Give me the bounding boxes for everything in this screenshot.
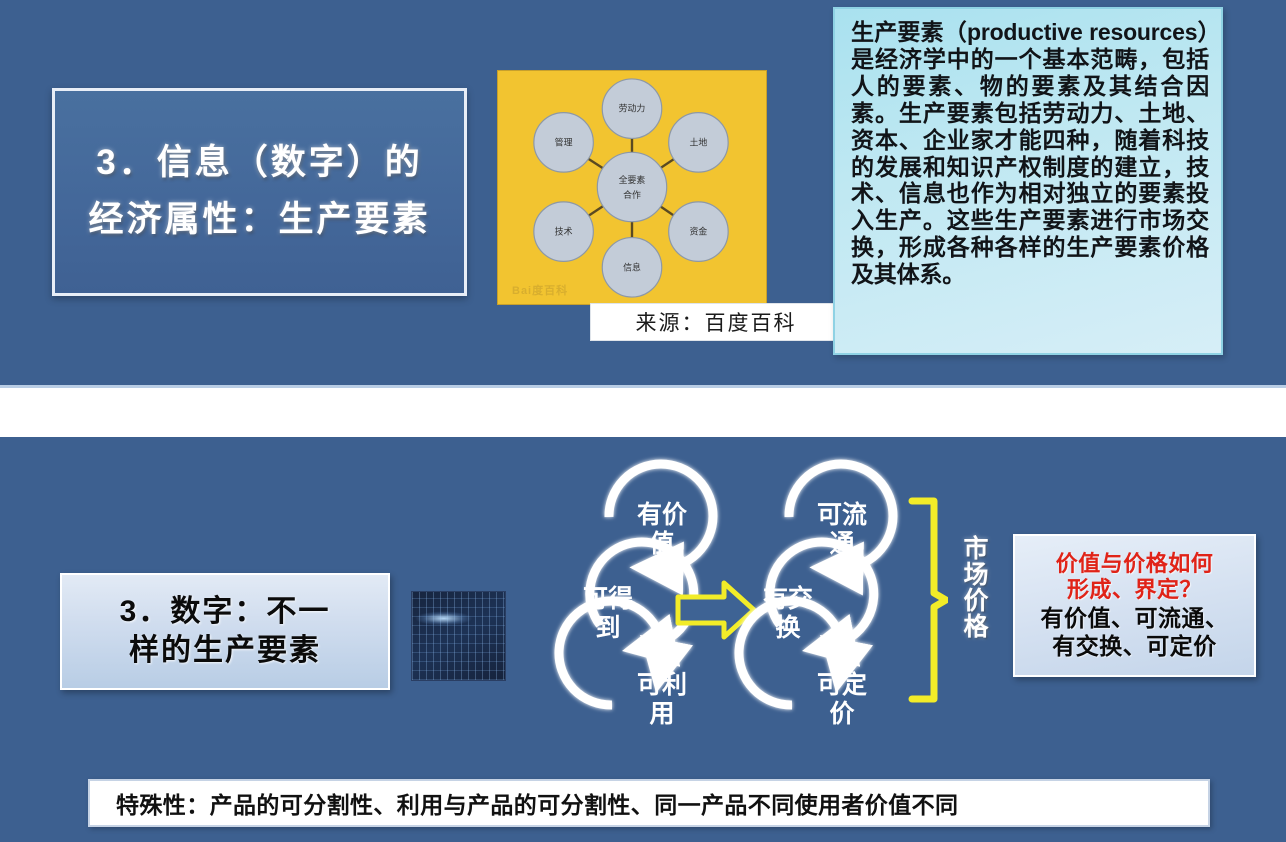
node-label-center-line-2: 合作 <box>623 189 641 200</box>
cycle-right-label-3b: 价 <box>829 700 855 728</box>
brace-icon <box>908 495 948 705</box>
production-factors-diagram: 劳动力 土地 资金 信息 技术 管理 全要素 合作 Bai度百科 <box>497 70 767 305</box>
source-caption: 来源：百度百科 <box>590 303 842 341</box>
bottom-caption-bar: 特殊性：产品的可分割性、利用与产品的可分割性、同一产品不同使用者价值不同 <box>88 779 1210 827</box>
production-factors-svg: 劳动力 土地 资金 信息 技术 管理 全要素 合作 <box>498 71 766 304</box>
answer-line-2: 有交换、可定价 <box>1052 632 1217 660</box>
slide-separator-gap <box>0 388 1286 437</box>
bottom-caption-text: 特殊性：产品的可分割性、利用与产品的可分割性、同一产品不同使用者价值不同 <box>116 786 958 820</box>
cycle-right-label-1a: 可流 <box>817 501 867 529</box>
node-label-management: 管理 <box>555 136 573 147</box>
cycle-left-label-2b: 到 <box>595 614 620 642</box>
production-factors-description-box: 生产要素（productive resources）是经济学中的一个基本范畴，包… <box>833 7 1223 355</box>
value-cycle-svg: 有价 值 可得 到 可利 用 可流 通 有交 换 可定 价 <box>540 455 940 765</box>
value-price-question-box: 价值与价格如何 形成、界定？ 有价值、可流通、 有交换、可定价 <box>1013 534 1256 677</box>
cycle-right-label-1b: 通 <box>829 530 854 558</box>
baidu-watermark: Bai度百科 <box>512 282 568 298</box>
slide-2-title-box: 3．数字：不一 样的生产要素 <box>60 573 390 690</box>
digital-matrix-image <box>412 592 505 680</box>
node-label-capital: 资金 <box>690 226 708 237</box>
market-price-label: 市场价格 <box>955 535 987 639</box>
node-label-land: 土地 <box>690 136 708 147</box>
market-price-brace <box>908 495 948 705</box>
cycle-left-label-2a: 可得 <box>583 585 633 613</box>
cycle-right-label-3a: 可定 <box>817 670 867 699</box>
question-line-2: 形成、界定？ <box>1067 577 1202 603</box>
slide-1-title-line-2: 经济属性：生产要素 <box>88 192 430 249</box>
cycle-right-label-2b: 换 <box>775 614 801 642</box>
cycle-left-label-1b: 值 <box>649 530 674 558</box>
node-label-labor: 劳动力 <box>619 103 646 114</box>
cycle-left-label-1a: 有价 <box>637 501 688 529</box>
cycle-left-label-3b: 用 <box>649 700 674 728</box>
production-factors-description-text: 生产要素（productive resources）是经济学中的一个基本范畴，包… <box>851 19 1209 288</box>
node-label-center-line-1: 全要素 <box>619 174 646 185</box>
node-label-technology: 技术 <box>555 226 573 237</box>
cycle-left-labels: 有价 值 可得 到 可利 用 <box>583 501 688 728</box>
node-label-information: 信息 <box>623 261 641 272</box>
answer-line-1: 有价值、可流通、 <box>1041 604 1229 632</box>
cycle-left-label-3a: 可利 <box>637 671 687 699</box>
slide-2-title-line-2: 样的生产要素 <box>129 632 321 670</box>
value-cycle-diagram: 有价 值 可得 到 可利 用 可流 通 有交 换 可定 价 <box>540 455 940 765</box>
slide-2-title-line-1: 3．数字：不一 <box>120 593 331 631</box>
cycle-right-labels: 可流 通 有交 换 可定 价 <box>763 501 867 728</box>
question-line-1: 价值与价格如何 <box>1056 551 1214 577</box>
slide-1-title-line-1: 3．信息（数字）的 <box>96 135 422 192</box>
cycle-right-label-2a: 有交 <box>763 584 813 613</box>
slide-1-title-box: 3．信息（数字）的 经济属性：生产要素 <box>52 88 467 296</box>
slide-1: 3．信息（数字）的 经济属性：生产要素 劳动力 土地 <box>0 0 1286 388</box>
